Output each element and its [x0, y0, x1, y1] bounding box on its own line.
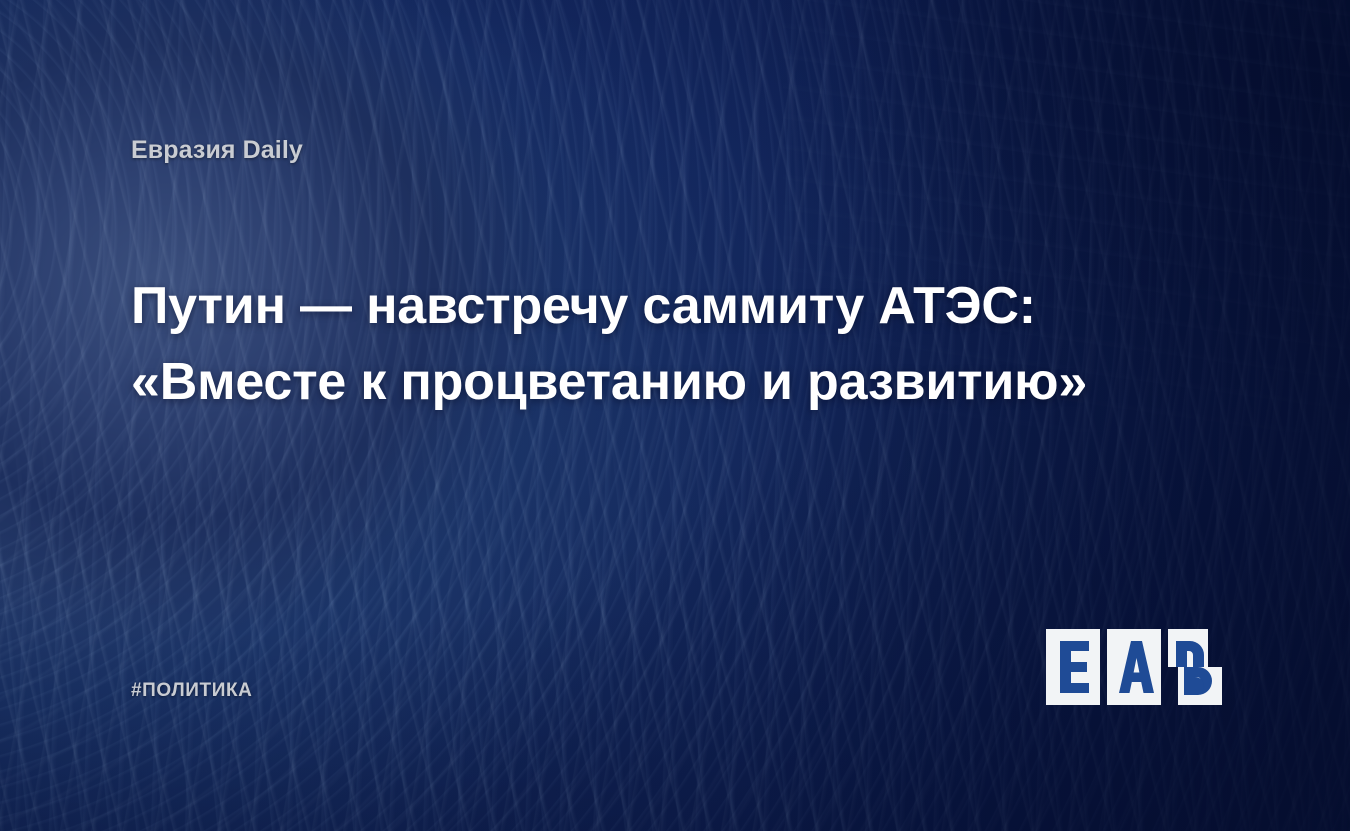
eadaily-logo[interactable] — [1046, 629, 1222, 705]
card-content: Евразия Daily Путин — навстречу саммиту … — [0, 0, 1350, 831]
share-card: Евразия Daily Путин — навстречу саммиту … — [0, 0, 1350, 831]
headline-line-2: «Вместе к процветанию и развитию» — [131, 344, 1191, 420]
category-hashtag[interactable]: #ПОЛИТИКА — [131, 680, 253, 702]
page-title: Путин — навстречу саммиту АТЭС: «Вместе … — [131, 268, 1191, 420]
eadaily-logo-icon — [1046, 629, 1222, 705]
headline-line-1: Путин — навстречу саммиту АТЭС: — [131, 268, 1191, 344]
brand-name: Евразия Daily — [131, 136, 303, 165]
